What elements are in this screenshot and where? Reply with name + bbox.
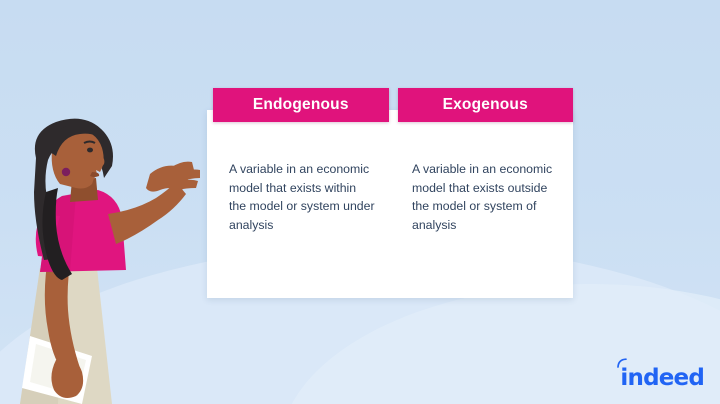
indeed-arc-icon	[617, 358, 632, 368]
earring-shape	[62, 168, 70, 176]
header-chip-exogenous: Exogenous	[398, 88, 574, 122]
header-label-exogenous: Exogenous	[443, 97, 528, 113]
comparison-card-body: A variable in an economic model that exi…	[207, 144, 573, 298]
right-arm-shape	[108, 182, 186, 244]
column-exogenous: A variable in an economic model that exi…	[390, 144, 573, 298]
slide-canvas: A variable in an economic model that exi…	[0, 0, 720, 404]
eye-shape	[87, 148, 93, 153]
column-endogenous: A variable in an economic model that exi…	[207, 144, 390, 298]
comparison-headers: Endogenous Exogenous	[213, 88, 573, 122]
finger-3	[176, 180, 198, 190]
indeed-logo: indeed	[620, 356, 704, 390]
presenter-illustration	[0, 118, 210, 404]
endogenous-description: A variable in an economic model that exi…	[229, 160, 376, 234]
comparison-card: A variable in an economic model that exi…	[207, 110, 573, 298]
indeed-wordmark: indeed	[620, 367, 704, 390]
header-chip-endogenous: Endogenous	[213, 88, 389, 122]
exogenous-description: A variable in an economic model that exi…	[412, 160, 559, 234]
header-label-endogenous: Endogenous	[253, 97, 349, 113]
